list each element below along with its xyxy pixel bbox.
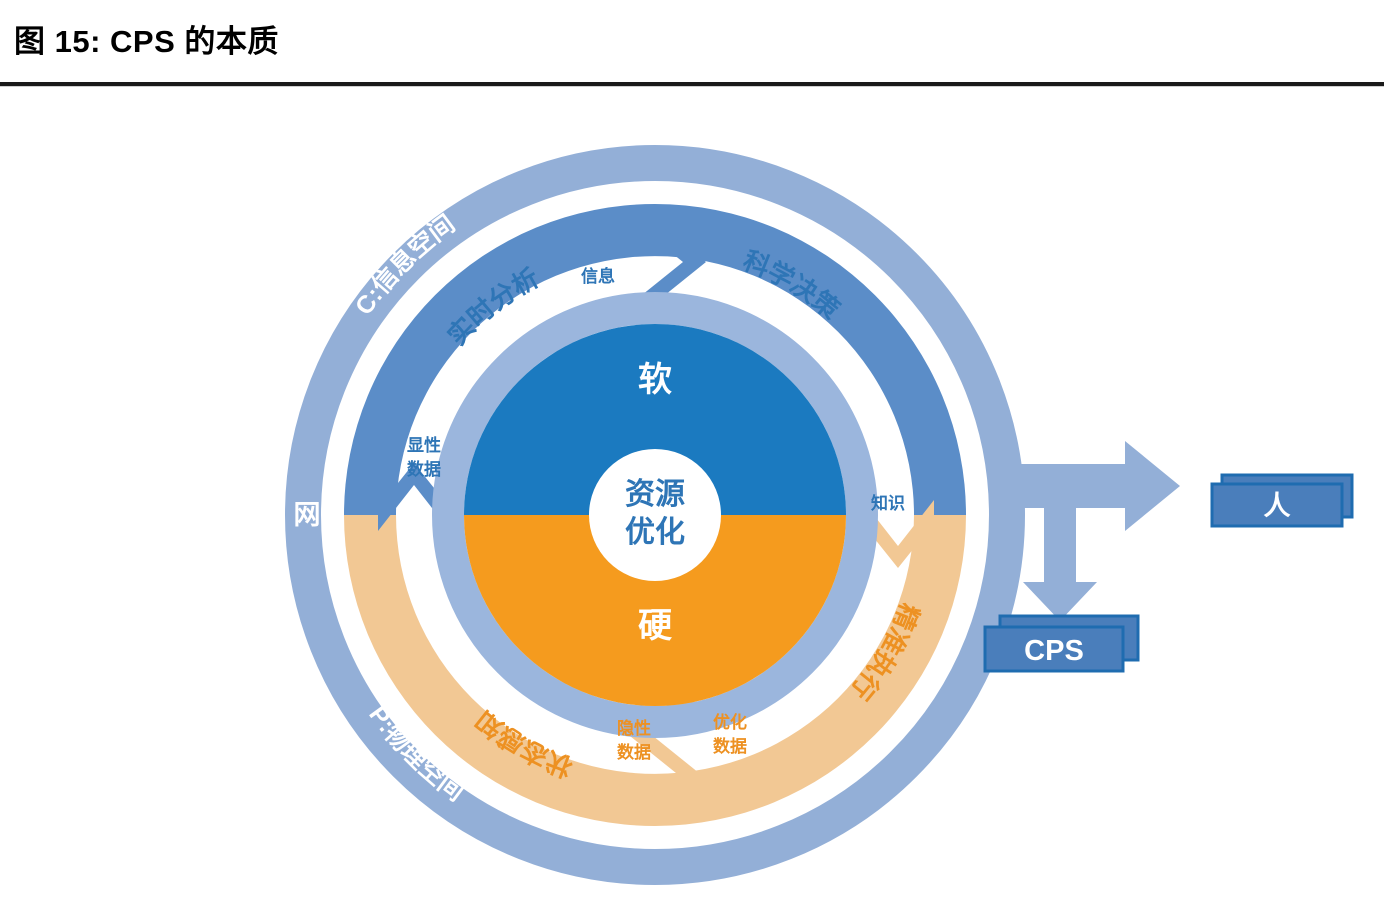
outer-ring-label: 网 [294,500,321,530]
data-label-optimized-line1: 优化 [713,712,747,732]
data-label-explicit-line2: 数据 [407,459,441,479]
data-label-information: 信息 [581,266,615,286]
node-person-label: 人 [1264,491,1291,521]
core-soft-label: 软 [638,361,672,399]
node-cps[interactable]: CPS [985,616,1138,671]
cps-cycle-diagram: 网 C:信息空间 P:物理空间 软 硬 资源 优化 [0,86,1384,908]
node-person[interactable]: 人 [1212,475,1352,526]
data-label-optimized-line2: 数据 [713,736,747,756]
flow-arrow-group [1012,441,1180,621]
data-label-implicit-line2: 数据 [617,742,651,762]
center-label-line2: 优化 [625,516,685,549]
data-label-implicit-line1: 隐性 [617,718,651,738]
core-hard-label: 硬 [638,607,672,645]
data-label-explicit-line1: 显性 [407,435,441,455]
arrow-to-cps-icon [1023,508,1097,621]
data-label-knowledge: 知识 [870,493,905,513]
center-label-line1: 资源 [625,478,685,511]
node-cps-label: CPS [1024,635,1084,667]
arrow-to-person-icon [1012,441,1180,531]
page-title: 图 15: CPS 的本质 [14,16,279,61]
